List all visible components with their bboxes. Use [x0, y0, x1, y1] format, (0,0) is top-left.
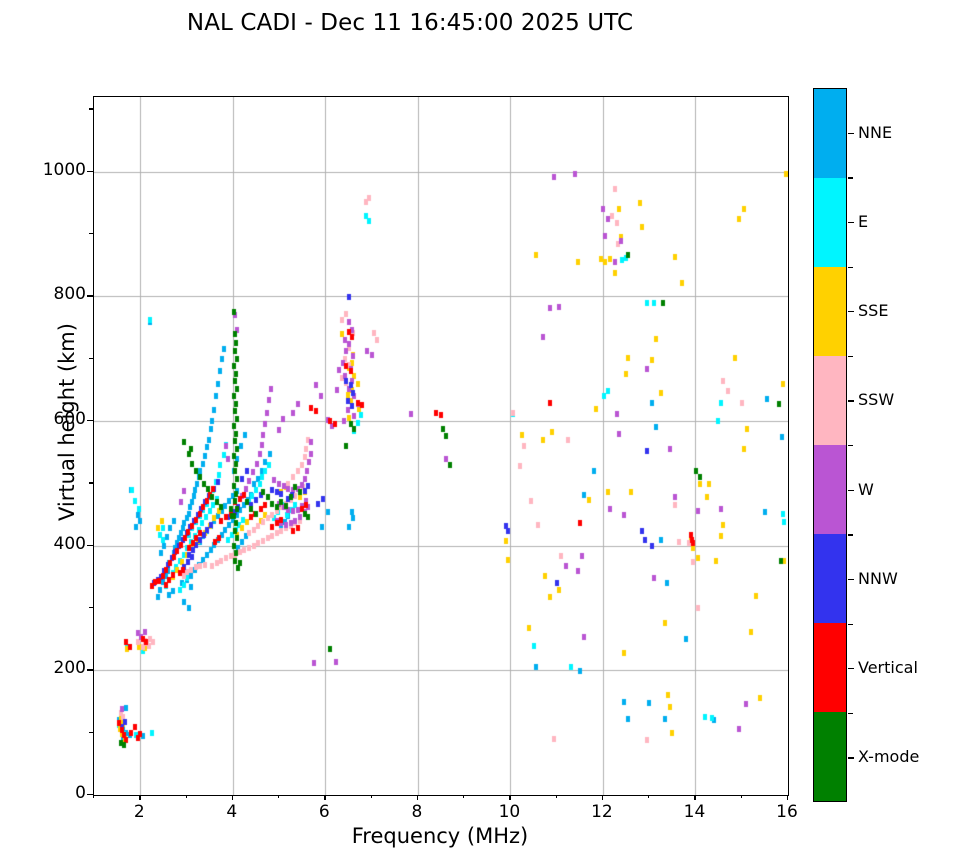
x-tick-label: 10	[479, 802, 539, 822]
colorbar-tick	[848, 757, 854, 758]
x-tick-label: 12	[572, 802, 632, 822]
y-tick-minor	[89, 482, 93, 483]
ionogram-scatter-data	[94, 97, 788, 795]
x-axis-label: Frequency (MHz)	[93, 824, 787, 848]
colorbar-boundary-tick	[848, 534, 853, 535]
x-tick-major	[232, 795, 233, 800]
x-tick-minor	[463, 795, 464, 798]
colorbar-tick	[848, 222, 854, 223]
colorbar-tick	[848, 579, 854, 580]
colorbar-boundary-tick	[848, 713, 853, 714]
y-tick-major	[87, 669, 93, 670]
y-tick-major	[87, 420, 93, 421]
colorbar-tick	[848, 400, 854, 401]
y-tick-minor	[89, 732, 93, 733]
colorbar-tick	[848, 668, 854, 669]
azimuth-colorbar[interactable]	[813, 88, 847, 802]
x-tick-label: 14	[664, 802, 724, 822]
colorbar-boundary-tick	[848, 445, 853, 446]
colorbar-boundary-tick	[848, 267, 853, 268]
colorbar-segment-e[interactable]	[814, 178, 846, 267]
x-tick-major	[417, 795, 418, 800]
colorbar-segment-nne[interactable]	[814, 89, 846, 178]
colorbar-boundary-tick	[848, 356, 853, 357]
colorbar-label-x-mode: X-mode	[858, 747, 919, 766]
colorbar-segment-ssw[interactable]	[814, 356, 846, 445]
y-tick-major	[87, 295, 93, 296]
colorbar-tick	[848, 311, 854, 312]
colorbar-tick	[848, 490, 854, 491]
x-tick-label: 6	[294, 802, 354, 822]
x-tick-major	[602, 795, 603, 800]
y-axis-label: Virtual height (km)	[55, 222, 79, 622]
colorbar-segment-vertical[interactable]	[814, 623, 846, 712]
page-title: NAL CADI - Dec 11 16:45:00 2025 UTC	[0, 10, 820, 36]
x-tick-minor	[556, 795, 557, 798]
y-tick-label: 1000	[6, 160, 86, 180]
colorbar-label-w: W	[858, 480, 874, 499]
y-tick-label: 200	[6, 658, 86, 678]
y-tick-minor	[89, 607, 93, 608]
y-tick-major	[87, 794, 93, 795]
colorbar-label-ssw: SSW	[858, 390, 894, 409]
x-tick-major	[509, 795, 510, 800]
colorbar-label-sse: SSE	[858, 301, 888, 320]
x-tick-label: 4	[202, 802, 262, 822]
y-tick-minor	[89, 233, 93, 234]
x-tick-minor	[278, 795, 279, 798]
colorbar-label-vertical: Vertical	[858, 658, 918, 677]
x-tick-minor	[186, 795, 187, 798]
x-tick-label: 8	[387, 802, 447, 822]
colorbar-label-e: E	[858, 212, 868, 231]
x-tick-label: 16	[757, 802, 817, 822]
x-tick-label: 2	[109, 802, 169, 822]
plot-area[interactable]	[93, 96, 789, 796]
colorbar-boundary-tick	[848, 624, 853, 625]
colorbar-tick	[848, 133, 854, 134]
x-tick-major	[694, 795, 695, 800]
x-tick-major	[139, 795, 140, 800]
colorbar-segment-x-mode[interactable]	[814, 712, 846, 801]
colorbar-boundary-tick	[848, 177, 853, 178]
y-tick-major	[87, 545, 93, 546]
x-tick-minor	[371, 795, 372, 798]
y-tick-minor	[89, 108, 93, 109]
x-tick-minor	[93, 795, 94, 798]
x-tick-major	[324, 795, 325, 800]
ionogram-figure: NAL CADI - Dec 11 16:45:00 2025 UTC 2468…	[0, 0, 958, 857]
x-tick-major	[787, 795, 788, 800]
y-tick-minor	[89, 358, 93, 359]
y-tick-label: 0	[6, 783, 86, 803]
colorbar-label-nne: NNE	[858, 123, 892, 142]
colorbar-segment-nnw[interactable]	[814, 534, 846, 623]
colorbar-segment-sse[interactable]	[814, 267, 846, 356]
colorbar-segment-w[interactable]	[814, 445, 846, 534]
y-tick-major	[87, 171, 93, 172]
colorbar-label-nnw: NNW	[858, 569, 898, 588]
x-tick-minor	[648, 795, 649, 798]
x-tick-minor	[741, 795, 742, 798]
